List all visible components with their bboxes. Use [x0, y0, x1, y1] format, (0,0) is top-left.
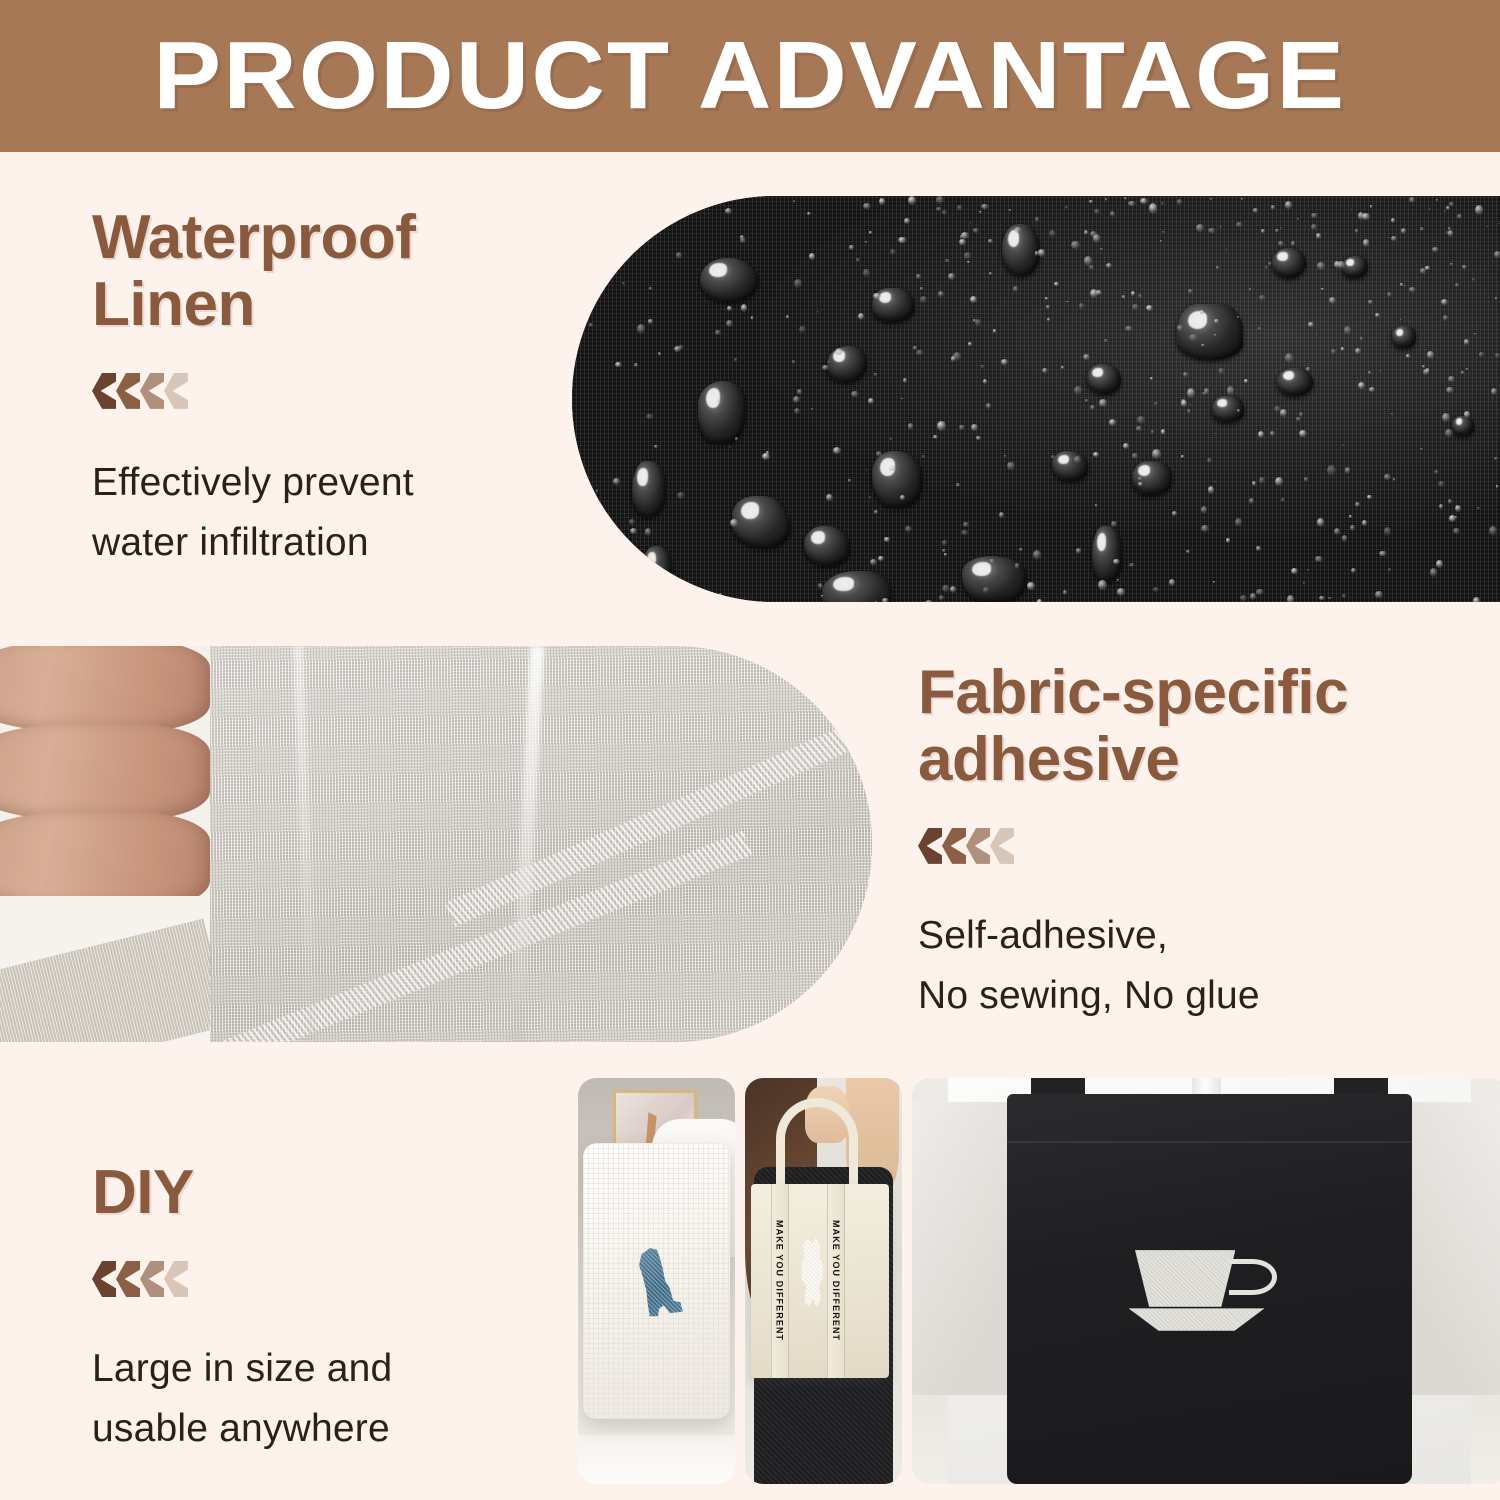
water-mist-speck: [1280, 409, 1287, 417]
water-mist-speck: [981, 204, 989, 209]
water-mist-speck: [1042, 368, 1048, 373]
water-mist-speck: [942, 585, 949, 592]
water-mist-speck: [1315, 556, 1323, 562]
water-mist-speck: [1096, 290, 1102, 295]
water-mist-speck: [1089, 200, 1093, 203]
body-line-1: Effectively prevent: [92, 453, 562, 513]
water-mist-speck: [726, 320, 733, 327]
water-droplet: [642, 546, 672, 592]
water-mist-speck: [1208, 228, 1215, 233]
water-mist-speck: [1249, 498, 1254, 504]
water-mist-speck: [863, 269, 870, 277]
chevron-left-icon: [116, 373, 140, 409]
water-mist-speck: [1095, 504, 1097, 506]
water-mist-speck: [1218, 368, 1225, 374]
water-mist-speck: [799, 326, 805, 333]
table-surface: [578, 1435, 735, 1484]
water-mist-speck: [1446, 206, 1450, 210]
water-mist-speck: [817, 311, 819, 313]
water-mist-speck: [916, 274, 921, 279]
canvas-tote-bag: MAKE YOU DIFFERENT MAKE YOU DIFFERENT: [751, 1184, 889, 1379]
water-mist-speck: [1177, 325, 1183, 330]
dog-silhouette-patch: [628, 1245, 687, 1322]
apron-seam: [1007, 1141, 1412, 1143]
section-adhesive-body: Self-adhesive, No sewing, No glue: [918, 906, 1478, 1027]
teacup-body: [1135, 1250, 1235, 1307]
water-mist-speck: [826, 494, 832, 501]
water-mist-speck: [1304, 477, 1308, 482]
water-droplet: [822, 571, 892, 602]
water-mist-speck: [1296, 417, 1300, 421]
water-mist-speck: [882, 598, 889, 602]
water-mist-speck: [1151, 430, 1154, 434]
water-mist-speck: [1285, 201, 1291, 209]
water-mist-speck: [1214, 481, 1216, 482]
water-mist-speck: [1362, 213, 1370, 220]
heading-line-2: Linen: [92, 272, 562, 339]
water-mist-speck: [856, 258, 860, 261]
water-mist-speck: [1208, 486, 1214, 494]
body-line-2: No sewing, No glue: [918, 966, 1478, 1026]
water-mist-speck: [622, 282, 625, 285]
chevron-left-icon: [140, 373, 164, 409]
section-waterproof-body: Effectively prevent water infiltration: [92, 453, 562, 574]
water-mist-speck: [1196, 224, 1204, 233]
water-mist-speck: [1186, 550, 1190, 553]
water-mist-speck: [884, 537, 890, 541]
water-mist-speck: [1013, 286, 1018, 292]
body-line-2: water infiltration: [92, 513, 562, 573]
water-mist-speck: [1455, 283, 1459, 287]
water-mist-speck: [1464, 411, 1471, 418]
water-mist-speck: [1152, 449, 1160, 459]
water-mist-speck: [990, 559, 994, 562]
water-mist-speck: [961, 530, 968, 535]
water-mist-speck: [1104, 339, 1107, 342]
water-mist-speck: [957, 205, 962, 211]
body-line-1: Large in size and: [92, 1339, 562, 1399]
water-mist-speck: [1494, 251, 1500, 258]
water-mist-speck: [1439, 504, 1443, 509]
water-mist-speck: [1019, 548, 1022, 551]
water-mist-speck: [920, 287, 923, 290]
water-mist-speck: [1474, 333, 1476, 335]
water-mist-speck: [828, 361, 830, 363]
water-mist-speck: [1125, 326, 1132, 332]
water-mist-speck: [973, 319, 976, 322]
white-pillow: [583, 1143, 731, 1419]
water-mist-speck: [1271, 205, 1275, 210]
water-mist-speck: [1049, 230, 1056, 237]
body-line-2: usable anywhere: [92, 1399, 562, 1459]
water-mist-speck: [1138, 294, 1142, 298]
water-mist-speck: [873, 293, 880, 299]
water-mist-speck: [1183, 372, 1188, 377]
water-mist-speck: [878, 556, 883, 561]
water-mist-speck: [1453, 528, 1460, 534]
header-bar: PRODUCT ADVANTAGE: [0, 0, 1500, 152]
water-mist-speck: [809, 253, 815, 260]
water-mist-speck: [983, 587, 989, 593]
water-mist-speck: [942, 210, 947, 215]
tote-strap-text-right: MAKE YOU DIFFERENT: [831, 1220, 841, 1341]
water-mist-speck: [1177, 199, 1182, 205]
water-mist-speck: [1136, 426, 1142, 430]
water-mist-speck: [904, 218, 910, 224]
water-mist-speck: [1391, 218, 1395, 223]
chevron-divider: [92, 1261, 562, 1297]
water-mist-speck: [1137, 416, 1145, 424]
water-mist-speck: [1181, 455, 1184, 458]
water-mist-speck: [1391, 413, 1393, 415]
water-mist-speck: [1345, 467, 1351, 474]
water-mist-speck: [944, 553, 947, 555]
water-mist-speck: [645, 528, 651, 535]
water-mist-speck: [1131, 291, 1135, 297]
chevron-left-icon: [990, 828, 1014, 864]
water-mist-speck: [707, 196, 715, 205]
chevron-left-icon: [140, 1261, 164, 1297]
water-mist-speck: [1489, 526, 1497, 536]
water-mist-speck: [1370, 205, 1373, 208]
water-mist-speck: [717, 398, 720, 402]
water-mist-speck: [1375, 591, 1382, 598]
water-mist-speck: [1306, 367, 1310, 371]
water-mist-speck: [1227, 386, 1235, 396]
water-mist-speck: [1308, 322, 1315, 327]
chevron-left-icon: [164, 1261, 188, 1297]
water-mist-speck: [1464, 339, 1469, 344]
water-mist-speck: [1153, 587, 1159, 592]
water-mist-speck: [1442, 413, 1450, 423]
water-mist-speck: [1409, 287, 1415, 292]
water-mist-speck: [615, 362, 621, 367]
water-mist-speck: [1214, 319, 1219, 323]
water-mist-speck: [1434, 470, 1439, 474]
water-mist-speck: [740, 235, 744, 239]
water-mist-speck: [629, 519, 634, 525]
water-mist-speck: [1334, 528, 1341, 535]
water-mist-speck: [835, 348, 843, 355]
water-mist-speck: [1105, 198, 1107, 200]
water-mist-speck: [1384, 474, 1392, 479]
water-mist-speck: [1146, 305, 1153, 311]
water-mist-speck: [1117, 588, 1125, 596]
water-droplet: [698, 381, 746, 443]
water-mist-speck: [1089, 265, 1094, 270]
water-mist-speck: [905, 526, 912, 532]
water-mist-speck: [1494, 457, 1497, 459]
water-mist-speck: [875, 601, 877, 602]
water-mist-speck: [613, 478, 620, 485]
water-mist-speck: [1015, 563, 1019, 568]
water-mist-speck: [634, 363, 638, 367]
water-mist-speck: [1110, 211, 1115, 217]
water-mist-speck: [1189, 334, 1197, 341]
water-mist-speck: [879, 198, 885, 205]
water-mist-speck: [1007, 462, 1014, 471]
water-mist-speck: [1124, 197, 1128, 200]
water-mist-speck: [964, 252, 972, 260]
water-mist-speck: [1140, 198, 1148, 204]
chevron-left-icon: [966, 828, 990, 864]
water-mist-speck: [981, 365, 984, 368]
water-mist-speck: [678, 199, 684, 206]
chevron-left-icon: [942, 828, 966, 864]
water-droplet: [732, 496, 790, 548]
water-mist-speck: [719, 593, 721, 596]
chevron-left-icon: [918, 828, 942, 864]
water-mist-speck: [1244, 379, 1248, 383]
water-mist-speck: [833, 447, 841, 454]
water-mist-speck: [1384, 527, 1391, 536]
water-mist-speck: [1216, 266, 1219, 269]
heading-line-1: Waterproof: [92, 205, 562, 272]
water-mist-speck: [1401, 228, 1406, 234]
water-mist-speck: [1445, 429, 1453, 437]
water-mist-speck: [983, 379, 987, 384]
water-mist-speck: [792, 360, 795, 363]
teacup-saucer: [1129, 1308, 1265, 1330]
water-mist-speck: [1425, 266, 1429, 271]
water-mist-speck: [822, 365, 829, 370]
water-mist-speck: [1033, 550, 1041, 560]
water-mist-speck: [786, 315, 790, 319]
water-droplet: [1087, 364, 1121, 394]
water-mist-speck: [898, 237, 906, 243]
water-mist-speck: [865, 241, 867, 243]
water-mist-speck: [1076, 548, 1081, 553]
water-mist-speck: [1065, 206, 1067, 209]
heading-line-2: adhesive: [918, 727, 1478, 794]
water-mist-speck: [916, 350, 924, 356]
water-mist-speck: [1462, 265, 1467, 269]
water-mist-speck: [818, 583, 823, 589]
water-mist-speck: [937, 421, 945, 431]
water-mist-speck: [1093, 234, 1100, 243]
water-mist-speck: [979, 211, 982, 213]
water-mist-speck: [959, 425, 964, 429]
water-mist-speck: [939, 595, 944, 601]
water-mist-speck: [1420, 448, 1423, 450]
water-mist-speck: [1387, 292, 1392, 297]
water-mist-speck: [715, 330, 721, 335]
water-droplet: [1092, 526, 1122, 582]
water-mist-speck: [589, 323, 593, 327]
water-mist-speck: [658, 352, 661, 355]
water-mist-speck: [950, 586, 956, 593]
water-mist-speck: [1240, 595, 1247, 601]
water-mist-speck: [1349, 515, 1353, 518]
water-droplet: [700, 258, 758, 302]
water-mist-speck: [963, 522, 968, 527]
water-mist-speck: [1375, 313, 1380, 317]
water-mist-speck: [1355, 502, 1360, 507]
chevron-left-icon: [164, 373, 188, 409]
water-mist-speck: [1027, 582, 1035, 590]
heading-line-1: DIY: [92, 1160, 562, 1227]
water-mist-speck: [793, 200, 795, 203]
section-waterproof-heading: Waterproof Linen: [92, 205, 562, 339]
water-mist-speck: [1400, 283, 1403, 286]
water-mist-speck: [1201, 525, 1209, 532]
page-title: PRODUCT ADVANTAGE: [153, 28, 1346, 124]
chevron-left-icon: [92, 1261, 116, 1297]
bear-silhouette-patch: [795, 1238, 827, 1316]
water-mist-speck: [811, 408, 813, 410]
water-mist-speck: [1350, 525, 1355, 530]
chevron-left-icon: [116, 1261, 140, 1297]
water-mist-speck: [1441, 299, 1447, 305]
water-mist-speck: [1355, 229, 1358, 233]
water-mist-speck: [1311, 224, 1317, 230]
water-mist-speck: [1200, 310, 1205, 314]
water-mist-speck: [848, 479, 850, 482]
water-mist-speck: [1388, 568, 1391, 572]
water-mist-speck: [1128, 201, 1135, 206]
water-mist-speck: [1038, 249, 1044, 256]
teacup-patch: [1129, 1250, 1291, 1336]
water-mist-speck: [1149, 203, 1157, 213]
section-adhesive-heading: Fabric-specific adhesive: [918, 660, 1478, 794]
water-mist-speck: [678, 345, 684, 350]
water-mist-speck: [1051, 455, 1055, 459]
water-mist-speck: [942, 540, 947, 545]
section-adhesive-text: Fabric-specific adhesive Self-adhesive, …: [918, 660, 1478, 1027]
water-mist-speck: [1037, 599, 1042, 602]
water-mist-speck: [1004, 455, 1006, 457]
water-mist-speck: [1201, 506, 1207, 513]
water-mist-speck: [876, 451, 882, 457]
water-droplet: [1177, 304, 1243, 360]
water-droplet: [1452, 416, 1474, 436]
thumbnail-pillow: [578, 1078, 735, 1484]
water-mist-speck: [677, 492, 685, 499]
chevron-divider: [92, 373, 562, 409]
water-mist-speck: [1258, 327, 1261, 330]
water-mist-speck: [1099, 399, 1106, 407]
water-mist-speck: [735, 437, 738, 441]
water-mist-speck: [1461, 371, 1464, 374]
teacup-handle: [1229, 1259, 1278, 1295]
section-diy-heading: DIY: [92, 1160, 562, 1227]
water-mist-speck: [762, 453, 770, 460]
water-mist-speck: [689, 201, 691, 203]
water-mist-speck: [1393, 478, 1395, 480]
tote-strap-right: MAKE YOU DIFFERENT: [827, 1184, 845, 1379]
water-mist-speck: [734, 358, 738, 361]
water-droplet: [1392, 326, 1416, 348]
water-mist-speck: [986, 403, 991, 408]
water-mist-speck: [1307, 569, 1309, 571]
water-mist-speck: [1256, 589, 1264, 595]
water-mist-speck: [1430, 568, 1437, 577]
water-mist-speck: [1117, 579, 1119, 581]
water-mist-speck: [648, 319, 652, 324]
water-droplet: [804, 526, 850, 566]
water-droplet: [1052, 451, 1088, 481]
water-mist-speck: [1014, 227, 1022, 233]
water-mist-speck: [1299, 430, 1307, 437]
water-mist-speck: [1422, 365, 1425, 368]
water-mist-speck: [1258, 431, 1264, 438]
finger: [0, 646, 210, 732]
water-mist-speck: [913, 346, 916, 350]
water-mist-speck: [1367, 495, 1371, 498]
water-mist-speck: [1448, 499, 1452, 504]
water-mist-speck: [936, 207, 942, 211]
water-mist-speck: [1287, 595, 1294, 602]
water-mist-speck: [1369, 387, 1375, 392]
water-mist-speck: [1132, 453, 1138, 459]
water-mist-speck: [993, 329, 996, 332]
tote-strap-left: MAKE YOU DIFFERENT: [771, 1184, 789, 1379]
water-mist-speck: [1161, 202, 1164, 205]
thumbnail-apron: [912, 1078, 1500, 1484]
water-mist-speck: [1061, 366, 1063, 369]
water-mist-speck: [925, 600, 933, 602]
black-apron: [1007, 1094, 1412, 1484]
water-mist-speck: [1475, 205, 1483, 215]
water-mist-speck: [1084, 230, 1088, 235]
water-mist-speck: [1071, 241, 1079, 249]
water-mist-speck: [1342, 594, 1346, 598]
water-mist-speck: [628, 196, 632, 201]
chevron-divider: [918, 828, 1478, 864]
water-mist-speck: [1063, 590, 1067, 595]
water-mist-speck: [1473, 597, 1480, 602]
water-mist-speck: [1427, 351, 1433, 359]
water-mist-speck: [1455, 516, 1457, 518]
water-mist-speck: [953, 352, 961, 361]
linen-fabric-photo: [0, 646, 872, 1042]
water-mist-speck: [1368, 371, 1371, 374]
water-mist-speck: [1256, 546, 1261, 552]
water-mist-speck: [615, 219, 623, 225]
section-waterproof-text: Waterproof Linen Effectively prevent wat…: [92, 205, 562, 574]
water-mist-speck: [869, 231, 871, 233]
water-mist-speck: [976, 436, 981, 440]
thumbnail-tote-bag: MAKE YOU DIFFERENT MAKE YOU DIFFERENT: [745, 1078, 902, 1484]
water-mist-speck: [1237, 409, 1241, 412]
water-mist-speck: [1250, 593, 1257, 599]
water-mist-speck: [1154, 402, 1158, 405]
water-mist-speck: [1226, 538, 1230, 542]
water-droplet: [872, 451, 922, 507]
hand-holding-fabric: [0, 646, 210, 1042]
water-mist-speck: [741, 304, 747, 312]
water-mist-speck: [973, 228, 979, 232]
water-mist-speck: [637, 324, 645, 334]
water-mist-speck: [1100, 248, 1103, 250]
water-mist-speck: [971, 424, 977, 431]
heading-line-1: Fabric-specific: [918, 660, 1478, 727]
water-mist-speck: [1204, 388, 1209, 394]
diy-thumbnail-row: MAKE YOU DIFFERENT MAKE YOU DIFFERENT: [578, 1078, 1500, 1484]
tote-strap-text-left: MAKE YOU DIFFERENT: [775, 1220, 785, 1341]
water-mist-speck: [1138, 482, 1143, 486]
water-mist-speck: [725, 597, 729, 602]
water-mist-speck: [1495, 353, 1500, 358]
finger: [0, 724, 210, 820]
water-droplet: [632, 461, 666, 517]
water-mist-speck: [1342, 535, 1348, 541]
water-mist-speck: [1129, 563, 1134, 567]
water-mist-speck: [1226, 249, 1228, 251]
water-mist-speck: [1317, 262, 1325, 270]
water-mist-speck: [1093, 452, 1100, 457]
water-mist-speck: [1457, 214, 1462, 220]
